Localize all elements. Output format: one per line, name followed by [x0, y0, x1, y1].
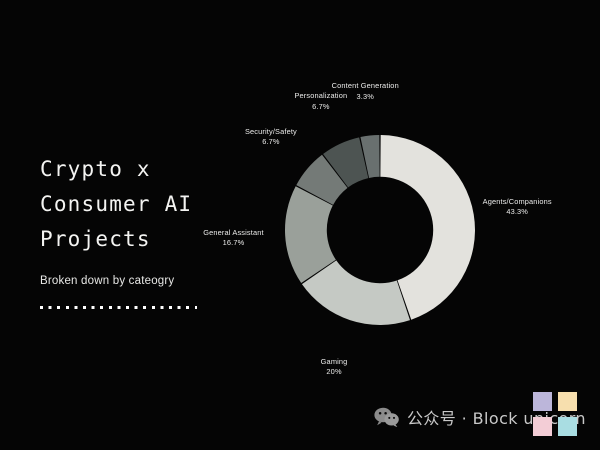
swatch-1 — [533, 392, 552, 411]
swatch-3 — [533, 417, 552, 436]
page-title-line-1: Crypto x — [40, 152, 250, 187]
swatch-4 — [558, 417, 577, 436]
slice-label-name: Security/Safety — [245, 127, 297, 136]
slice-label-value: 6.7% — [294, 102, 347, 112]
slice-label-value: 3.3% — [332, 92, 399, 102]
slice-label-name: Gaming — [321, 357, 348, 366]
slice-label-value: 20% — [321, 367, 348, 377]
slice-label-name: Agents/Companions — [483, 197, 552, 206]
slide-canvas: Crypto x Consumer AI Projects Broken dow… — [0, 0, 600, 450]
slice-label: Agents/Companions43.3% — [483, 197, 552, 218]
donut-slice — [285, 186, 336, 283]
slice-label-value: 6.7% — [245, 137, 297, 147]
slice-label: Content Generation3.3% — [332, 81, 399, 102]
slice-label: Personalization6.7% — [294, 91, 347, 112]
slice-label-value: 43.3% — [483, 207, 552, 217]
donut-slice — [296, 155, 347, 205]
dotted-divider — [40, 306, 197, 309]
donut-slice — [302, 260, 410, 325]
slice-label-name: Content Generation — [332, 81, 399, 90]
page-subtitle: Broken down by cateogry — [40, 275, 250, 287]
slice-label-name: Personalization — [294, 91, 347, 100]
page-title-line-3: Projects — [40, 222, 250, 257]
slice-label: Security/Safety6.7% — [245, 127, 297, 148]
donut-slice — [360, 135, 379, 178]
donut-slice-group — [285, 135, 475, 325]
page-title-line-2: Consumer AI — [40, 187, 250, 222]
donut-slice — [380, 135, 475, 320]
swatch-2 — [558, 392, 577, 411]
wechat-icon — [374, 407, 400, 427]
title-block: Crypto x Consumer AI Projects Broken dow… — [40, 152, 250, 309]
color-swatch-grid — [533, 392, 577, 436]
donut-slice — [323, 137, 368, 187]
slice-label: Gaming20% — [321, 357, 348, 378]
